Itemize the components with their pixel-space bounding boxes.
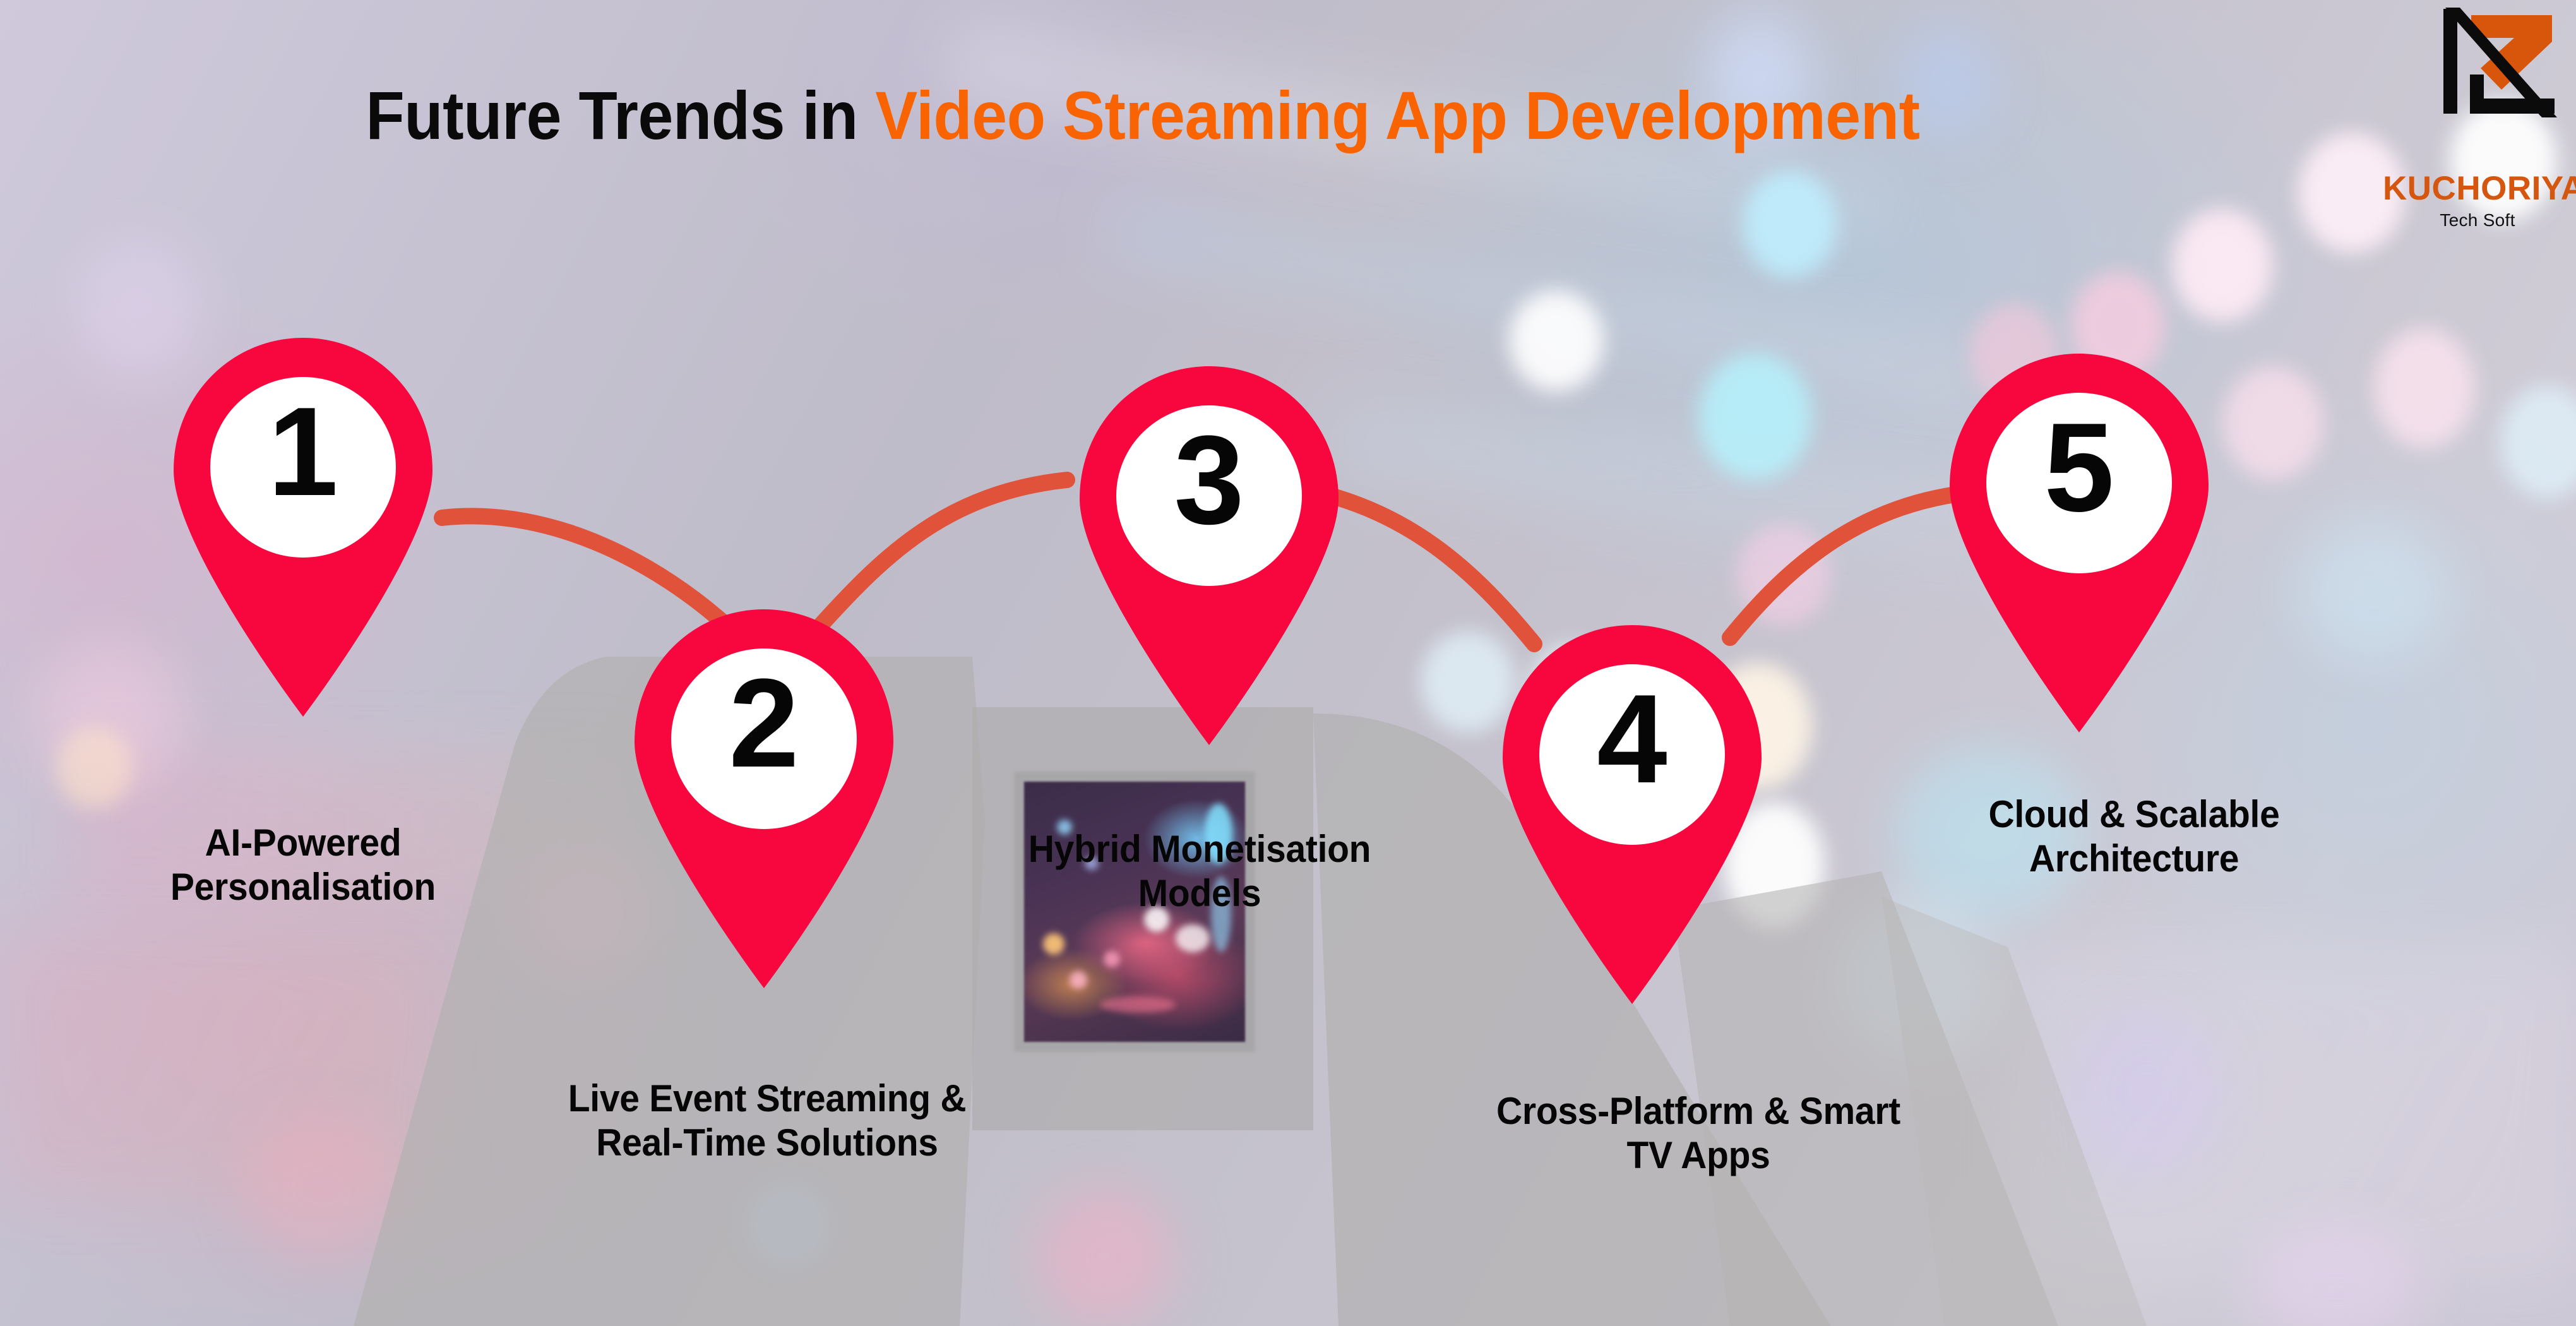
trend-label-2-line1: Live Event Streaming &: [446, 1077, 1088, 1121]
connector-4-5: [1730, 493, 1970, 638]
trend-label-4-line1: Cross-Platform & Smart: [1369, 1089, 2029, 1133]
trend-label-3-line2: Models: [930, 871, 1470, 916]
infographic-canvas: 1 2 3 4 5 AI-Powered Personalisation: [0, 0, 2576, 1326]
logo-tagline: Tech Soft: [2383, 210, 2572, 230]
page-title-black-part: Future Trends in: [366, 77, 875, 153]
kuchoriya-k-monogram-icon: [2383, 5, 2572, 174]
page-title-orange-part: Video Streaming App Development: [875, 77, 1919, 153]
pin-number-3: 3: [1073, 417, 1345, 544]
trend-label-3-line1: Hybrid Monetisation: [930, 827, 1470, 871]
trend-label-1-line2: Personalisation: [123, 865, 483, 909]
trend-label-2: Live Event Streaming & Real-Time Solutio…: [446, 1077, 1088, 1164]
pin-number-5: 5: [1943, 405, 2215, 531]
pin-marker-4[interactable]: 4: [1496, 622, 1768, 1004]
trend-label-1: AI-Powered Personalisation: [123, 821, 483, 909]
trend-label-5: Cloud & Scalable Architecture: [1894, 792, 2374, 880]
pin-marker-5[interactable]: 5: [1943, 350, 2215, 732]
trend-label-4: Cross-Platform & Smart TV Apps: [1369, 1089, 2029, 1177]
pin-marker-3[interactable]: 3: [1073, 363, 1345, 745]
logo-company-name: KUCHORIYA: [2383, 172, 2572, 205]
trend-label-1-line1: AI-Powered: [123, 821, 483, 865]
pin-number-1: 1: [167, 389, 439, 515]
trend-label-5-line1: Cloud & Scalable: [1894, 792, 2374, 837]
pin-marker-1[interactable]: 1: [167, 335, 439, 717]
pin-number-4: 4: [1496, 676, 1768, 803]
pin-marker-2[interactable]: 2: [628, 606, 900, 988]
trend-label-5-line2: Architecture: [1894, 837, 2374, 881]
trend-label-4-line2: TV Apps: [1369, 1133, 2029, 1178]
connector-2-3: [821, 480, 1067, 625]
trend-label-3: Hybrid Monetisation Models: [930, 827, 1470, 915]
page-title: Future Trends in Video Streaming App Dev…: [80, 78, 2206, 153]
trend-label-2-line2: Real-Time Solutions: [446, 1121, 1088, 1165]
brand-logo[interactable]: KUCHORIYA Tech Soft: [2383, 5, 2572, 230]
pin-number-2: 2: [628, 660, 900, 787]
